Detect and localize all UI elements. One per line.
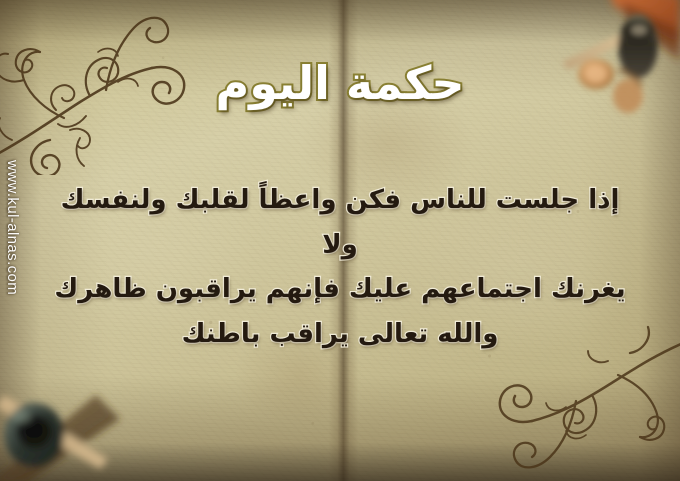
- website-watermark: www.kul-alnas.com: [0, 160, 21, 341]
- quote-line-2: يغرنك اجتماعهم عليك فإنهم يراقبون ظاهرك: [52, 267, 628, 312]
- wisdom-quote-text: إذا جلست للناس فكن واعظاً لقلبك ولنفسك و…: [52, 178, 628, 357]
- wisdom-card: www.kul-alnas.com حكمة اليوم إذا جلست لل…: [0, 0, 680, 481]
- page-title: حكمة اليوم: [0, 58, 680, 109]
- quote-line-1: إذا جلست للناس فكن واعظاً لقلبك ولنفسك و…: [52, 178, 628, 267]
- inkwell-quill-photo-bottom-left: [0, 351, 190, 481]
- quote-line-3: والله تعالى يراقب باطنك: [52, 312, 628, 357]
